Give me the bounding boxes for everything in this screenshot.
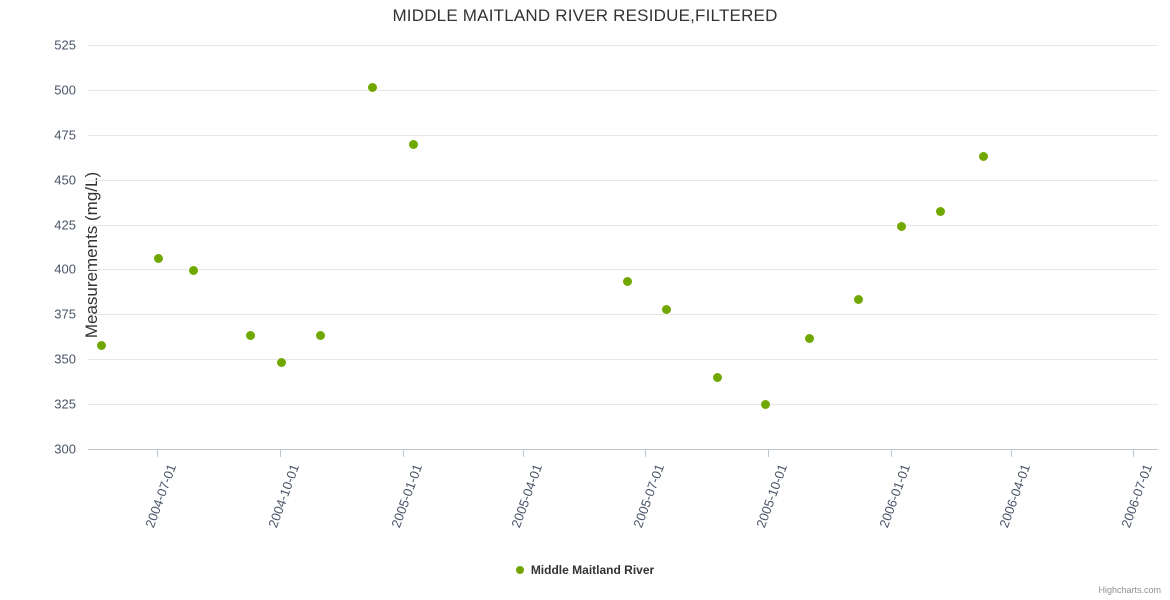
gridline-y: [88, 225, 1158, 226]
chart-container: MIDDLE MAITLAND RIVER RESIDUE,FILTERED M…: [0, 0, 1170, 600]
x-axis-tick: [157, 449, 158, 457]
data-point[interactable]: [368, 83, 377, 92]
x-axis-tick: [768, 449, 769, 457]
x-axis-tick: [891, 449, 892, 457]
data-point[interactable]: [897, 222, 906, 231]
x-axis-tick-label: 2004-07-01: [131, 462, 179, 561]
x-axis-tick-label: 2005-10-01: [742, 462, 790, 561]
gridline-y: [88, 404, 1158, 405]
gridline-y: [88, 45, 1158, 46]
data-point[interactable]: [277, 358, 286, 367]
x-axis-tick: [1133, 449, 1134, 457]
chart-title: MIDDLE MAITLAND RIVER RESIDUE,FILTERED: [0, 6, 1170, 26]
data-point[interactable]: [854, 295, 863, 304]
y-axis-tick-label: 350: [16, 352, 76, 367]
x-axis-tick-label: 2006-04-01: [985, 462, 1033, 561]
y-axis-tick-label: 400: [16, 262, 76, 277]
y-axis-tick-label: 450: [16, 172, 76, 187]
data-point[interactable]: [97, 341, 106, 350]
y-axis-tick-label: 425: [16, 217, 76, 232]
x-axis-tick: [1011, 449, 1012, 457]
data-point[interactable]: [936, 207, 945, 216]
gridline-y: [88, 359, 1158, 360]
y-axis-tick-label: 325: [16, 397, 76, 412]
data-point[interactable]: [662, 305, 671, 314]
x-axis-tick: [280, 449, 281, 457]
x-axis-tick-label: 2005-04-01: [497, 462, 545, 561]
chart-credits[interactable]: Highcharts.com: [1098, 585, 1161, 595]
x-axis-tick: [403, 449, 404, 457]
gridline-y: [88, 180, 1158, 181]
legend-item-label: Middle Maitland River: [531, 563, 654, 577]
x-axis-tick-label: 2005-07-01: [619, 462, 667, 561]
y-axis-tick-label: 525: [16, 38, 76, 53]
data-point[interactable]: [623, 277, 632, 286]
legend-item-middle-maitland-river[interactable]: Middle Maitland River: [516, 563, 654, 577]
y-axis-tick-label: 300: [16, 442, 76, 457]
x-axis-tick-label: 2005-01-01: [377, 462, 425, 561]
data-point[interactable]: [979, 152, 988, 161]
legend-marker-icon: [516, 566, 524, 574]
x-axis-tick: [645, 449, 646, 457]
data-point[interactable]: [154, 254, 163, 263]
gridline-y: [88, 135, 1158, 136]
data-point[interactable]: [316, 331, 325, 340]
x-axis-line: [88, 449, 1158, 450]
chart-legend: Middle Maitland River: [0, 563, 1170, 577]
plot-area[interactable]: Measurements (mg/L) 52550047545042540037…: [88, 45, 1158, 449]
gridline-y: [88, 314, 1158, 315]
y-axis-tick-label: 375: [16, 307, 76, 322]
data-point[interactable]: [761, 400, 770, 409]
data-point[interactable]: [246, 331, 255, 340]
x-axis-tick: [523, 449, 524, 457]
data-point[interactable]: [189, 266, 198, 275]
gridline-y: [88, 90, 1158, 91]
y-axis-tick-label: 500: [16, 82, 76, 97]
x-axis-tick-label: 2004-10-01: [254, 462, 302, 561]
gridline-y: [88, 269, 1158, 270]
data-point[interactable]: [713, 373, 722, 382]
data-point[interactable]: [409, 140, 418, 149]
x-axis-tick-label: 2006-01-01: [865, 462, 913, 561]
y-axis-tick-label: 475: [16, 127, 76, 142]
y-axis-title: Measurements (mg/L): [82, 35, 102, 475]
data-point[interactable]: [805, 334, 814, 343]
x-axis-tick-label: 2006-07-01: [1106, 462, 1154, 561]
